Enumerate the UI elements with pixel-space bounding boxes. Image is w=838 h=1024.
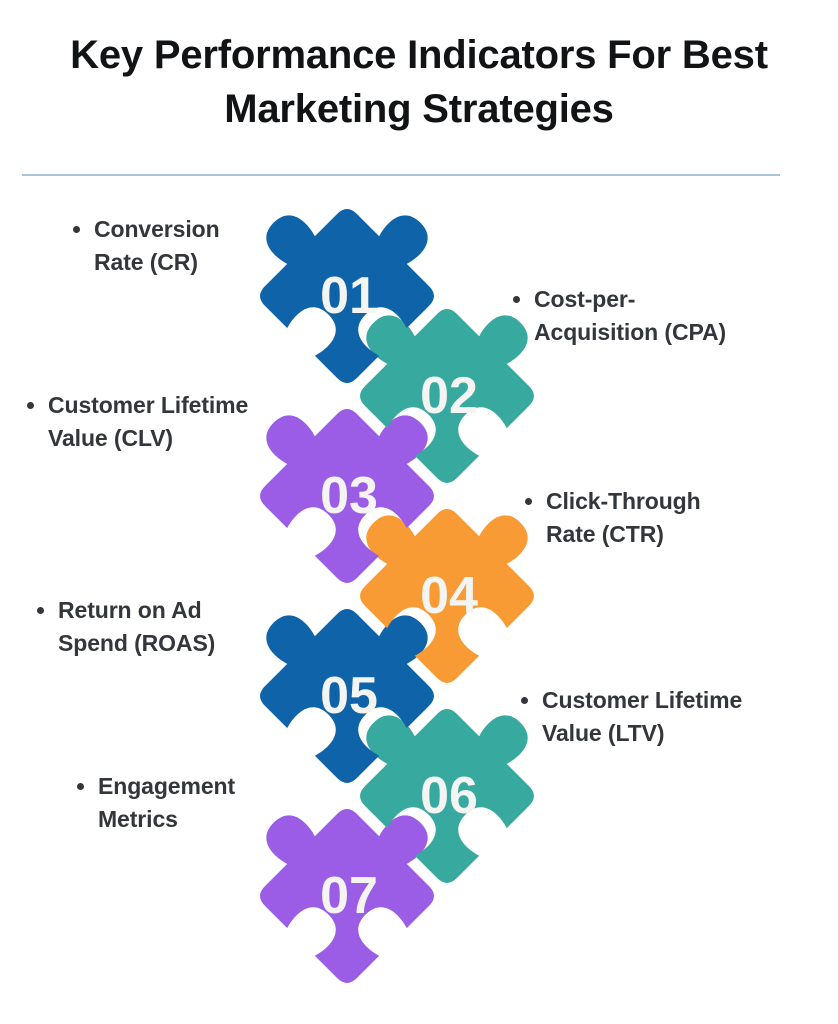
kpi-label-line: Customer Lifetime xyxy=(48,392,248,418)
infographic-poster: Key Performance Indicators For Best Mark… xyxy=(0,0,838,1024)
kpi-label-line: Value (LTV) xyxy=(542,720,664,746)
puzzle-piece-01[interactable]: 01 xyxy=(255,204,439,388)
kpi-label-line: Metrics xyxy=(98,806,178,832)
kpi-label-02: Cost-per-Acquisition (CPA) xyxy=(512,283,812,348)
kpi-label-line: Cost-per- xyxy=(534,286,635,312)
kpi-label-06: Customer LifetimeValue (LTV) xyxy=(520,684,820,749)
kpi-label-line: Spend (ROAS) xyxy=(58,630,215,656)
list-item: ConversionRate (CR) xyxy=(94,213,272,278)
kpi-label-01: ConversionRate (CR) xyxy=(72,213,272,278)
kpi-label-04: Click-ThroughRate (CTR) xyxy=(524,485,804,550)
kpi-label-line: Value (CLV) xyxy=(48,425,173,451)
kpi-label-line: Rate (CTR) xyxy=(546,521,664,547)
list-item: Cost-per-Acquisition (CPA) xyxy=(534,283,812,348)
kpi-label-line: Rate (CR) xyxy=(94,249,198,275)
kpi-label-line: Return on Ad xyxy=(58,597,202,623)
list-item: Click-ThroughRate (CTR) xyxy=(546,485,804,550)
kpi-label-list: Cost-per-Acquisition (CPA) xyxy=(512,283,812,348)
list-item: Customer LifetimeValue (LTV) xyxy=(542,684,820,749)
kpi-label-line: Conversion xyxy=(94,216,220,242)
kpi-label-line: Engagement xyxy=(98,773,235,799)
kpi-label-line: Acquisition (CPA) xyxy=(534,319,726,345)
kpi-label-list: ConversionRate (CR) xyxy=(72,213,272,278)
kpi-label-list: Customer LifetimeValue (LTV) xyxy=(520,684,820,749)
kpi-label-list: Click-ThroughRate (CTR) xyxy=(524,485,804,550)
kpi-label-line: Customer Lifetime xyxy=(542,687,742,713)
kpi-label-line: Click-Through xyxy=(546,488,701,514)
puzzle-piece-shape-01 xyxy=(255,204,439,388)
